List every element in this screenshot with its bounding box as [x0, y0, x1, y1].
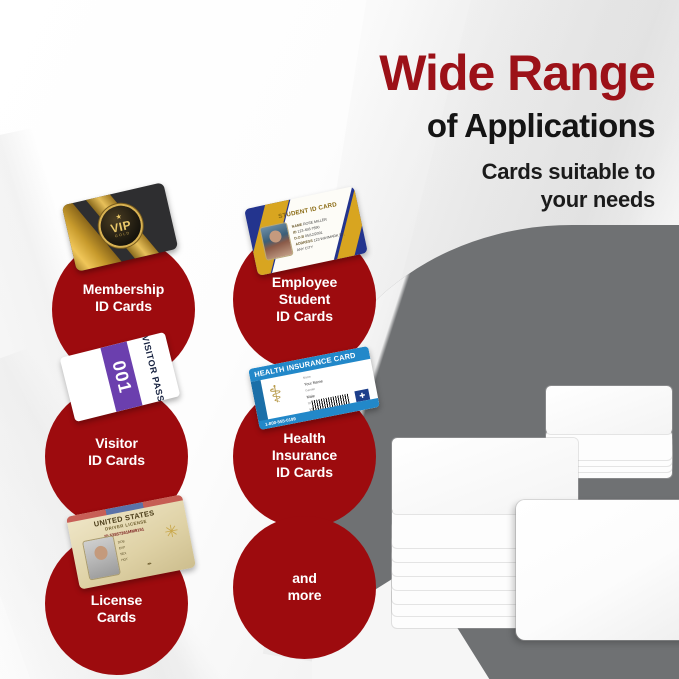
hologram-star-icon: ✳ [163, 522, 180, 541]
bubble-label-visitor: Visitor ID Cards [45, 435, 188, 469]
label-line: ID Cards [233, 464, 376, 481]
label-line: Membership [52, 281, 195, 298]
bubble-label-employee-student: Employee Student ID Cards [233, 274, 376, 325]
student-photo [260, 223, 292, 260]
caduceus-icon: ⚕ [268, 382, 285, 408]
bubble-label-health-insurance: Health Insurance ID Cards [233, 430, 376, 481]
label-line: License [45, 592, 188, 609]
license-field-key: HGT [121, 557, 128, 562]
label-line: ID Cards [45, 452, 188, 469]
poster-canvas: Wide Range of Applications Cards suitabl… [0, 0, 679, 679]
label-line: ID Cards [52, 298, 195, 315]
label-line: Employee [233, 274, 376, 291]
student-field-value: ANY CITY [296, 245, 313, 252]
bubble-label-license: License Cards [45, 592, 188, 626]
label-line: and [233, 570, 376, 587]
visitor-label-text: VISITOR PASS [140, 334, 166, 403]
page-title: Wide Range [300, 48, 655, 98]
page-subtitle: of Applications [280, 108, 655, 144]
label-line: more [233, 587, 376, 604]
label-line: Insurance [233, 447, 376, 464]
bubble-label-membership: Membership ID Cards [52, 281, 195, 315]
bubble-label-and-more: and more [233, 570, 376, 604]
label-line: Health [233, 430, 376, 447]
label-line: Cards [45, 609, 188, 626]
tagline-line-1: Cards suitable to [300, 158, 655, 186]
license-photo [83, 536, 120, 579]
license-field-list: DOB EXP SEX HGT [117, 538, 128, 563]
label-line: Student [233, 291, 376, 308]
single-blank-card [516, 500, 679, 640]
label-line: ID Cards [233, 308, 376, 325]
label-line: Visitor [45, 435, 188, 452]
license-signature: ✒ [146, 561, 152, 569]
